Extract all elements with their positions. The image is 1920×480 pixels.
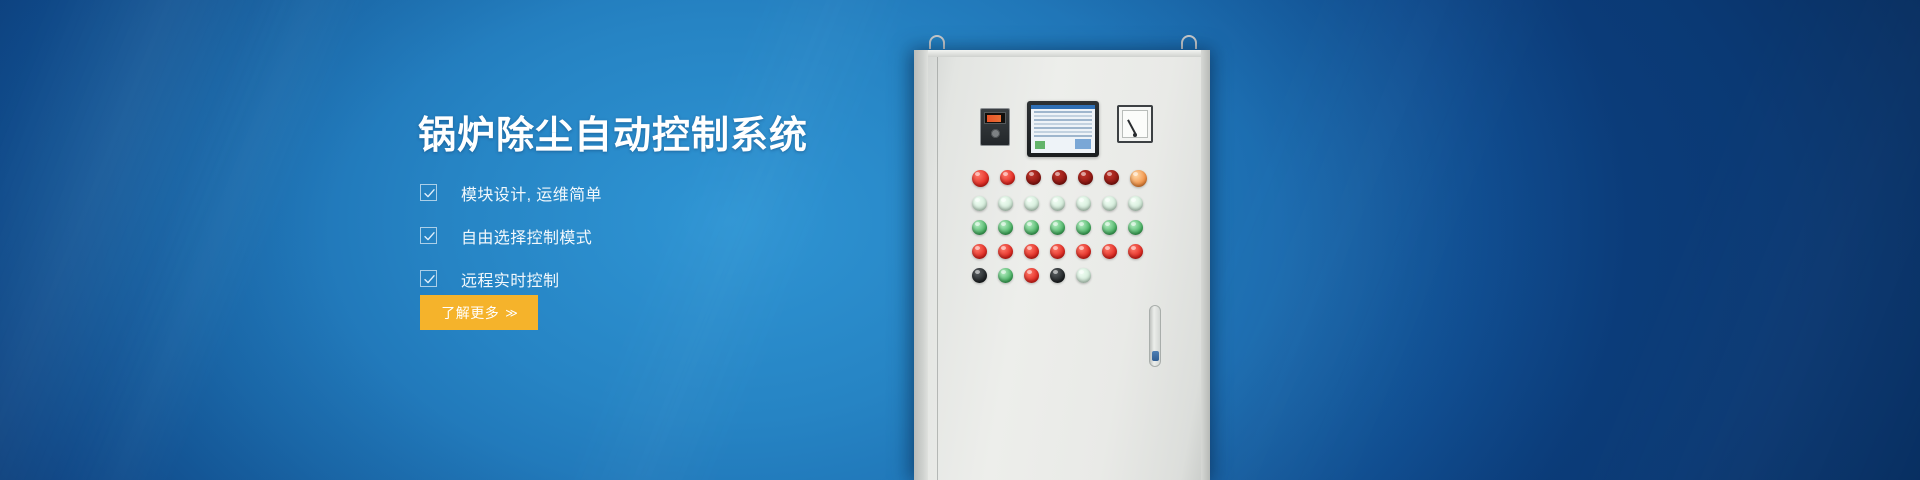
indicator-lamp-green: [1102, 220, 1117, 235]
meter-knob: [991, 129, 1000, 138]
chevron-right-icon: ≫: [505, 306, 517, 320]
cabinet-top-edge: [914, 50, 1210, 57]
hero-banner: 锅炉除尘自动控制系统 模块设计, 运维简单 自由选择控制模式: [0, 0, 1920, 480]
indicator-lamp-red: [1128, 244, 1143, 259]
indicator-lamp-pale-green: [1050, 196, 1065, 211]
indicator-lamp-red: [972, 170, 989, 187]
lamp-row: [972, 196, 1162, 211]
lamp-row: [972, 220, 1162, 235]
cabinet-door-handle: [1149, 305, 1161, 367]
indicator-lamp-red: [1050, 244, 1065, 259]
indicator-lamp-pale-green: [1102, 196, 1117, 211]
indicator-lamp-green: [1076, 220, 1091, 235]
banner-title: 锅炉除尘自动控制系统: [418, 104, 808, 159]
pushbutton-black: [1050, 268, 1065, 283]
indicator-lamp-red: [1024, 244, 1039, 259]
indicator-lamp-dark-red: [1052, 170, 1067, 185]
analog-gauge: [1117, 105, 1153, 143]
indicator-lamp-red: [972, 244, 987, 259]
indicator-lamp-dark-red: [1078, 170, 1093, 185]
pushbutton-red: [1024, 268, 1039, 283]
indicator-lamp-dark-red: [1104, 170, 1119, 185]
cabinet-right-edge: [1201, 50, 1210, 480]
indicator-lamp-red: [1000, 170, 1015, 185]
indicator-lamp-green: [1050, 220, 1065, 235]
pushbutton-black: [972, 268, 987, 283]
pushbutton-green: [998, 268, 1013, 283]
cabinet-door-seam: [937, 57, 938, 480]
gauge-pivot: [1133, 133, 1137, 137]
pushbutton-pale-green: [1076, 268, 1091, 283]
indicator-lamp-red: [1076, 244, 1091, 259]
indicator-lamp-pale-green: [1076, 196, 1091, 211]
banner-content: 锅炉除尘自动控制系统 模块设计, 运维简单 自由选择控制模式: [418, 0, 978, 480]
cabinet-left-edge: [914, 50, 928, 480]
indicator-lamp-red: [998, 244, 1013, 259]
indicator-lamp-green: [972, 220, 987, 235]
lamp-row: [972, 170, 1162, 187]
list-item: 自由选择控制模式: [420, 219, 602, 252]
lamp-row: [972, 244, 1162, 259]
indicator-lamp-pale-green: [1128, 196, 1143, 211]
list-item-label: 自由选择控制模式: [461, 224, 592, 248]
indicator-lamp-pale-green: [998, 196, 1013, 211]
lamp-row: [972, 268, 1162, 283]
checkbox-icon: [420, 270, 437, 287]
indicator-lamp-orange: [1130, 170, 1147, 187]
list-item-label: 远程实时控制: [461, 267, 559, 291]
cabinet-body: [914, 50, 1210, 480]
indicator-lamp-red: [1102, 244, 1117, 259]
checkbox-icon: [420, 227, 437, 244]
indicator-lamp-grid: [972, 170, 1162, 292]
indicator-lamp-dark-red: [1026, 170, 1041, 185]
lifting-hook-icon: [1181, 35, 1197, 49]
indicator-lamp-green: [998, 220, 1013, 235]
indicator-lamp-green: [1024, 220, 1039, 235]
hmi-screen-content: [1031, 105, 1095, 153]
digital-meter: [980, 108, 1010, 146]
lifting-hook-icon: [929, 35, 945, 49]
hmi-touchscreen: [1027, 101, 1099, 157]
indicator-lamp-green: [1128, 220, 1143, 235]
list-item: 模块设计, 运维简单: [420, 176, 602, 209]
learn-more-label: 了解更多: [441, 303, 499, 323]
list-item-label: 模块设计, 运维简单: [461, 181, 602, 205]
indicator-lamp-pale-green: [1024, 196, 1039, 211]
learn-more-button[interactable]: 了解更多 ≫: [420, 295, 538, 330]
control-cabinet-photo: [900, 0, 1320, 480]
meter-display: [984, 112, 1006, 124]
feature-list: 模块设计, 运维简单 自由选择控制模式 远程实时控制: [420, 176, 602, 295]
cabinet-lock-icon: [1152, 351, 1159, 361]
indicator-lamp-pale-green: [972, 196, 987, 211]
list-item: 远程实时控制: [420, 262, 602, 295]
checkbox-icon: [420, 184, 437, 201]
